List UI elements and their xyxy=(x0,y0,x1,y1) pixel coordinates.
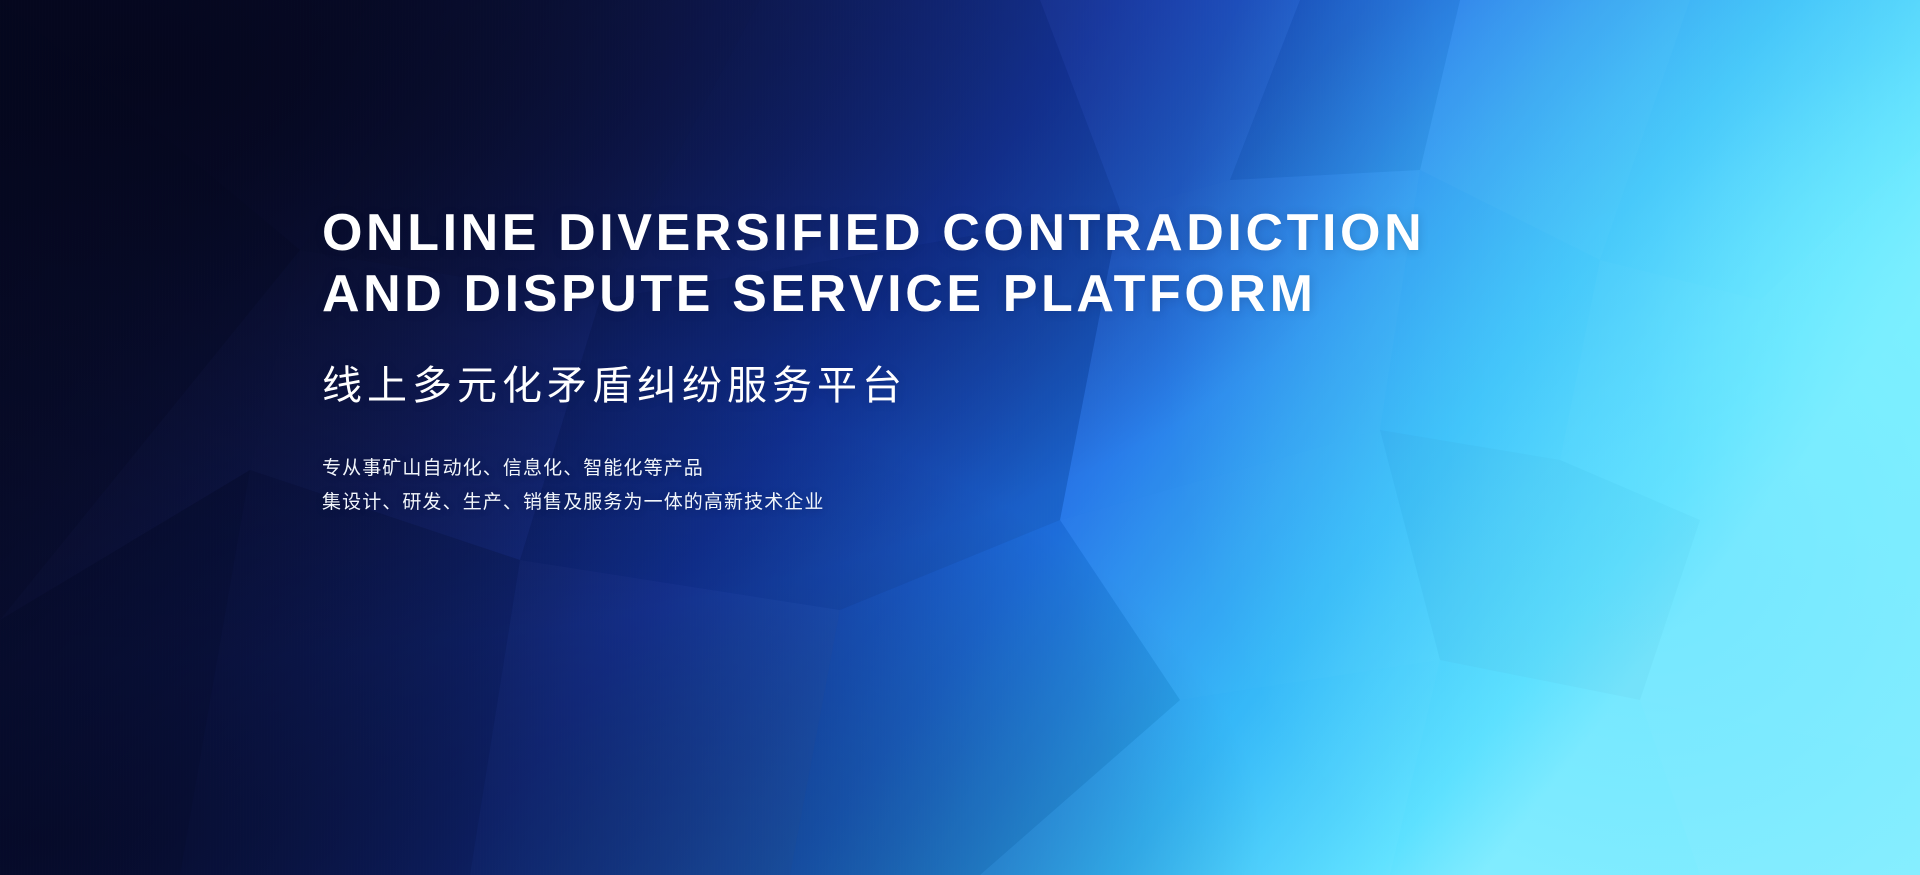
banner-body-copy: 专从事矿山自动化、信息化、智能化等产品 集设计、研发、生产、销售及服务为一体的高… xyxy=(322,452,1642,520)
hero-banner: ONLINE DIVERSIFIED CONTRADICTION AND DIS… xyxy=(0,0,1920,875)
body-line-1: 专从事矿山自动化、信息化、智能化等产品 xyxy=(322,452,1642,486)
banner-subtitle-zh: 线上多元化矛盾纠纷服务平台 xyxy=(322,360,1642,412)
headline-line-2: AND DISPUTE SERVICE PLATFORM xyxy=(322,264,1642,325)
banner-content: ONLINE DIVERSIFIED CONTRADICTION AND DIS… xyxy=(322,168,1642,520)
banner-headline-en: ONLINE DIVERSIFIED CONTRADICTION AND DIS… xyxy=(322,203,1642,325)
body-line-2: 集设计、研发、生产、销售及服务为一体的高新技术企业 xyxy=(322,486,1642,520)
headline-line-1: ONLINE DIVERSIFIED CONTRADICTION xyxy=(322,203,1642,264)
